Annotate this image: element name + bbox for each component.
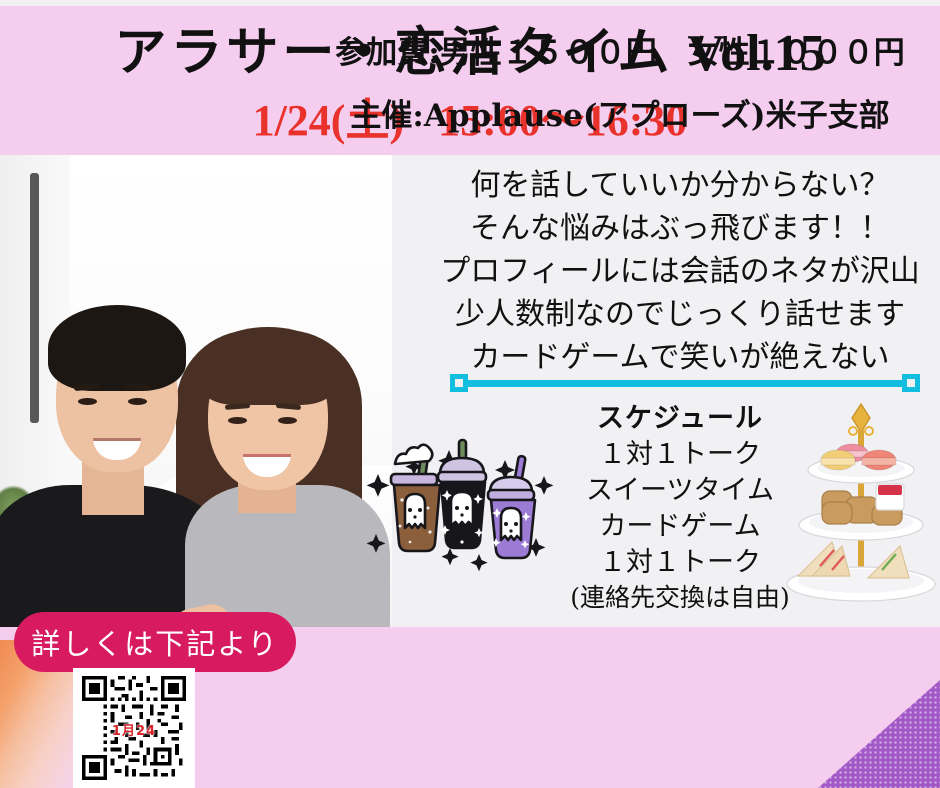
schedule-item: １対１トーク bbox=[530, 545, 830, 581]
schedule-item: スイーツタイム bbox=[530, 473, 830, 509]
event-flyer: アラサー・恋活タイムVol.15 1/24(土)15:00〜16:30 bbox=[0, 0, 940, 788]
cyan-divider bbox=[450, 374, 920, 392]
man-eye-left bbox=[78, 398, 97, 405]
schedule-section: スケジュール １対１トーク スイーツタイム カードゲーム １対１トーク (連絡先… bbox=[530, 396, 830, 615]
details-badge-label: 詳しくは下記より bbox=[31, 621, 278, 663]
description-line-3: プロフィールには会話のネタが沢山 bbox=[420, 250, 940, 293]
man-hair bbox=[48, 305, 186, 391]
participation-fee: 参加費:男性１５００円 女性１０００円 bbox=[300, 27, 940, 72]
window-frame bbox=[30, 173, 39, 423]
details-badge[interactable]: 詳しくは下記より bbox=[14, 612, 296, 672]
description-line-4: 少人数制なのでじっくり話せます bbox=[420, 293, 940, 336]
tier-macarons bbox=[808, 444, 914, 483]
divider-handle-left-icon bbox=[450, 374, 468, 392]
description-text: 何を話していいか分からない？ そんな悩みはぶっ飛びます！！ プロフィールには会話… bbox=[420, 164, 940, 379]
description-line-2: そんな悩みはぶっ飛びます！！ bbox=[420, 207, 940, 250]
schedule-title: スケジュール bbox=[530, 396, 830, 435]
divider-handle-right-icon bbox=[902, 374, 920, 392]
schedule-item: カードゲーム bbox=[530, 509, 830, 545]
ghost-drinks-illustration bbox=[366, 430, 556, 590]
man-eye-right bbox=[128, 398, 147, 405]
jam-pot bbox=[876, 484, 904, 510]
woman-hair-top bbox=[200, 327, 336, 405]
ghost-drink-brown bbox=[391, 445, 440, 551]
woman-eye-left bbox=[228, 417, 247, 424]
schedule-note: (連絡先交換は自由) bbox=[530, 581, 830, 615]
description-line-5: カードゲームで笑いが絶えない bbox=[420, 336, 940, 379]
schedule-item: １対１トーク bbox=[530, 437, 830, 473]
woman-eye-right bbox=[278, 417, 297, 424]
divider-line bbox=[458, 380, 912, 387]
three-tier-afternoon-tea-stand bbox=[786, 398, 936, 610]
ghost-drink-black bbox=[438, 440, 486, 548]
purple-halftone-corner bbox=[818, 680, 940, 788]
qr-code-label: 1月24 bbox=[82, 720, 186, 739]
qr-code-matrix: 1月24 bbox=[82, 676, 186, 780]
smiling-couple-photo bbox=[0, 155, 392, 640]
description-line-1: 何を話していいか分からない？ bbox=[420, 164, 940, 207]
organizer: 主催:Applause(アプローズ)米子支部 bbox=[300, 90, 940, 135]
qr-code[interactable]: 1月24 bbox=[73, 668, 195, 788]
